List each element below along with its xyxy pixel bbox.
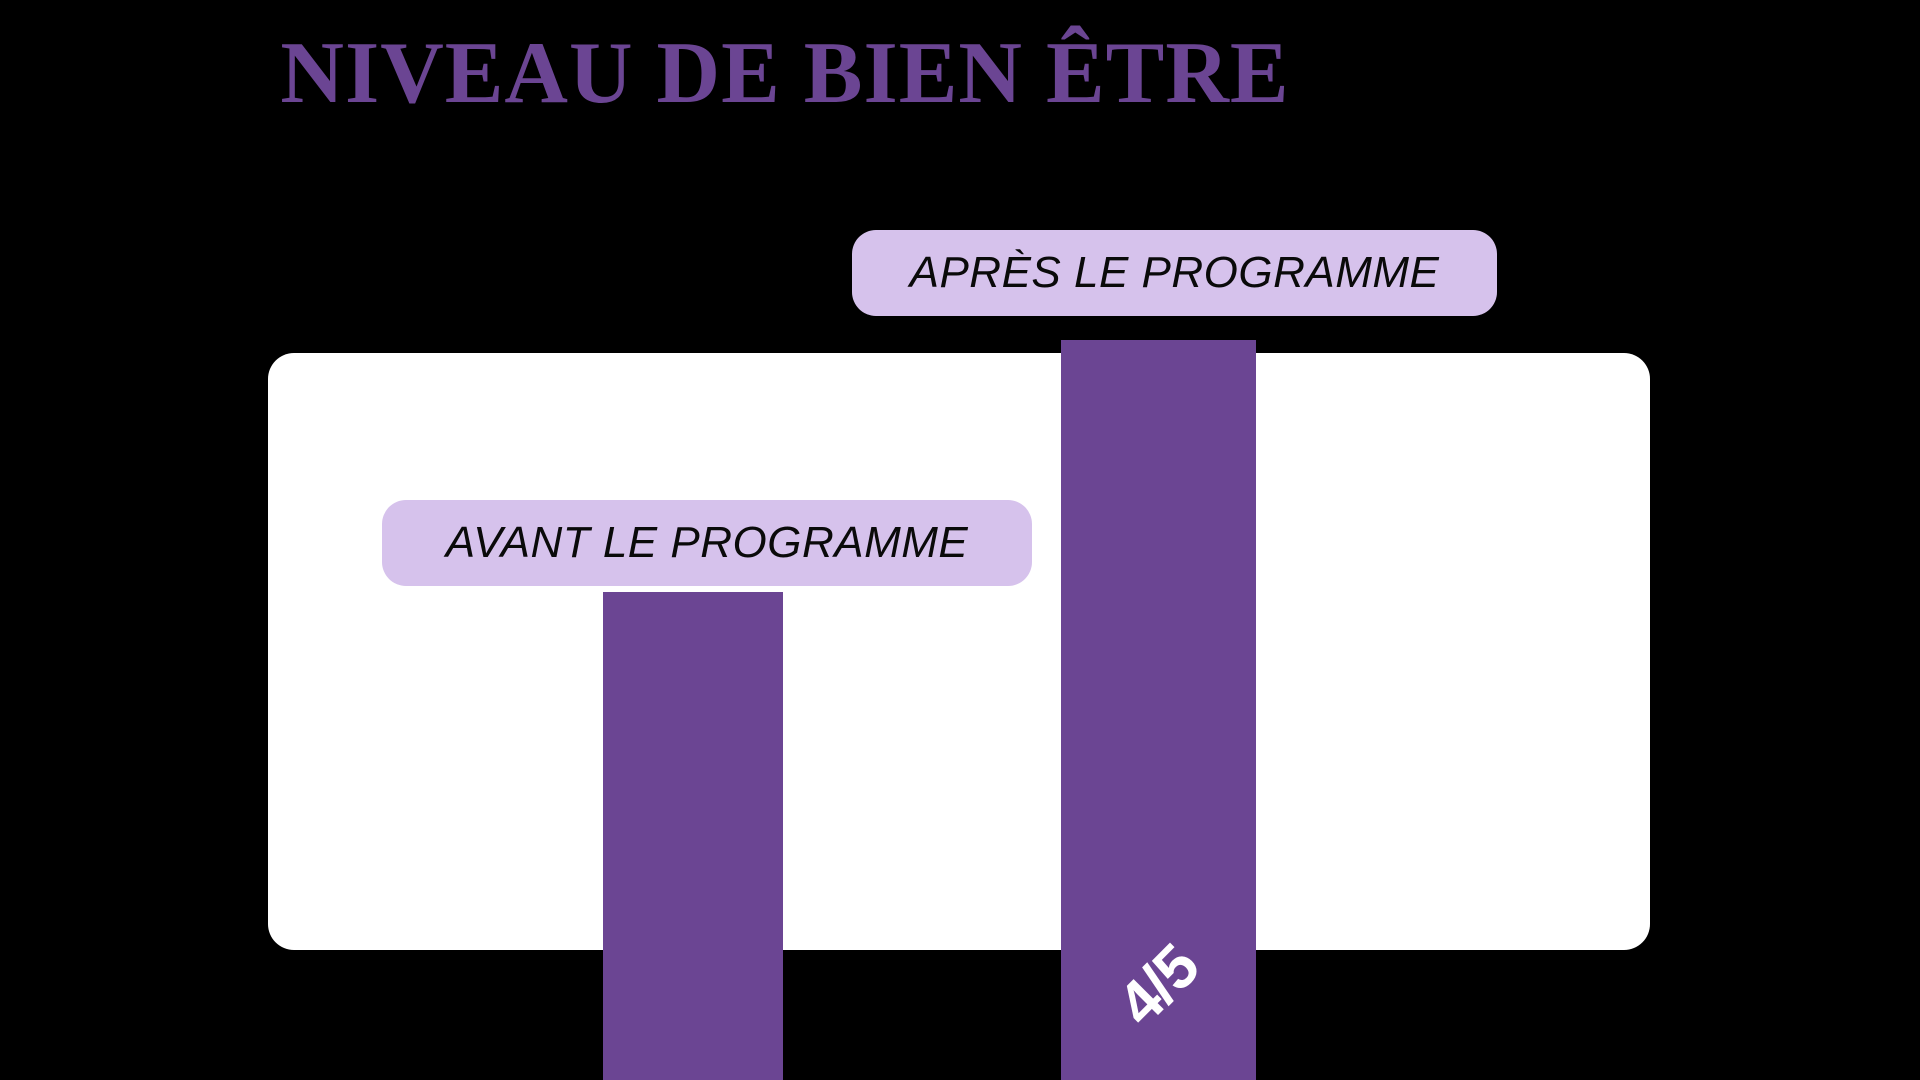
infographic-canvas: NIVEAU DE BIEN ÊTRE 2/5 4/5 APRÈS LE PRO… [0,0,1920,1080]
chart-card-panel [268,353,1650,950]
bar-value-after: 4/5 [1064,891,1252,1079]
bar-after-program: 4/5 [1061,340,1256,1080]
label-after-program: APRÈS LE PROGRAMME [852,230,1497,316]
bar-before-program: 2/5 [603,592,783,1080]
page-title: NIVEAU DE BIEN ÊTRE [0,30,1570,118]
label-before-program: AVANT LE PROGRAMME [382,500,1032,586]
